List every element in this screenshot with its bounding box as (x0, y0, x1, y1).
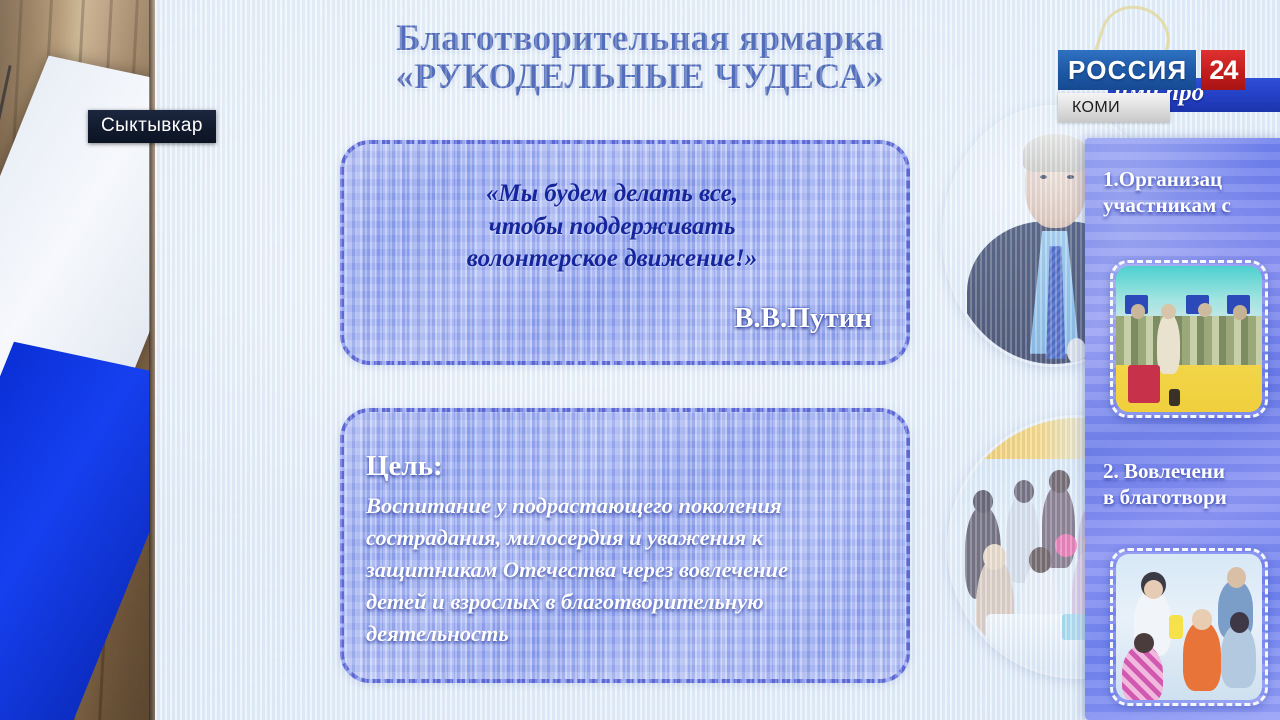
location-badge: Сыктывкар (88, 110, 216, 143)
quote-text: «Мы будем делать все, чтобы поддерживать… (344, 178, 880, 276)
quote-line-2: чтобы поддерживать (344, 211, 880, 244)
quote-line-3: волонтерское движение!» (344, 243, 880, 276)
broadcast-frame: Благотворительная ярмарка «РУКОДЕЛЬНЫЕ Ч… (0, 0, 1280, 720)
side-panel-photo-children (1110, 548, 1268, 706)
side-panel: 1.Организац участникам с 2. Вовлечени (1085, 138, 1280, 720)
side-panel-item-2-line1: 2. Вовлечени (1103, 458, 1280, 484)
goal-body: Воспитание у подрастающего поколения сос… (366, 490, 886, 650)
channel-logo: РОССИЯ 24 КОМИ (1058, 50, 1245, 122)
goal-box: Цель: Воспитание у подрастающего поколен… (340, 408, 910, 683)
channel-name: РОССИЯ (1058, 50, 1196, 90)
channel-number: 24 (1201, 50, 1245, 90)
goal-line-2: сострадания, милосердия и уважения к (366, 522, 886, 554)
slide-title-line1: Благотворительная ярмарка (350, 20, 930, 58)
region-badge: КОМИ (1058, 93, 1170, 122)
side-panel-item-1-line2: участникам с (1103, 192, 1280, 218)
slide-title-line2: «РУКОДЕЛЬНЫЕ ЧУДЕСА» (350, 58, 930, 95)
side-panel-photo-soldiers (1110, 260, 1268, 418)
goal-heading: Цель: (366, 450, 443, 483)
page-title: Благотворительная ярмарка «РУКОДЕЛЬНЫЕ Ч… (350, 20, 930, 96)
goal-line-4: детей и взрослых в благотворительную (366, 586, 886, 618)
quote-box: «Мы будем делать все, чтобы поддерживать… (340, 140, 910, 365)
side-panel-item-2-line2: в благотвори (1103, 484, 1280, 510)
quote-line-1: «Мы будем делать все, (344, 178, 880, 211)
goal-line-3: защитникам Отечества через вовлечение (366, 554, 886, 586)
quote-author: В.В.Путин (734, 302, 872, 335)
goal-line-5: деятельность (366, 618, 886, 650)
side-panel-item-1: 1.Организац участникам с (1103, 166, 1280, 219)
side-panel-item-2: 2. Вовлечени в благотвори (1103, 458, 1280, 511)
goal-line-1: Воспитание у подрастающего поколения (366, 490, 886, 522)
russian-flag (0, 0, 150, 720)
side-panel-item-1-line1: 1.Организац (1103, 166, 1280, 192)
